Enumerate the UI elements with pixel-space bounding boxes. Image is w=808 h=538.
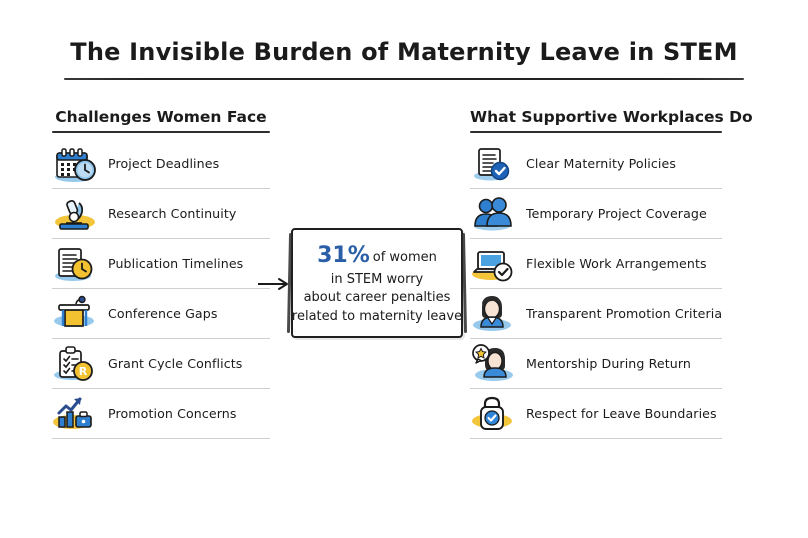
list-item-label: Clear Maternity Policies	[526, 156, 676, 171]
challenges-column: Challenges Women Face	[52, 108, 270, 439]
document-clock-icon	[52, 243, 100, 285]
list-item-label: Publication Timelines	[108, 256, 243, 271]
list-item-label: Transparent Promotion Criteria	[526, 306, 722, 321]
supportive-list: Clear Maternity Policies Temporary Proje…	[470, 139, 722, 439]
title-block: The Invisible Burden of Maternity Leave …	[64, 38, 744, 80]
list-item-label: Respect for Leave Boundaries	[526, 406, 717, 421]
list-item-label: Conference Gaps	[108, 306, 218, 321]
svg-text:R: R	[79, 365, 88, 378]
calendar-clock-icon	[52, 143, 100, 185]
laptop-check-icon	[470, 243, 518, 285]
list-item-conference-gaps[interactable]: Conference Gaps	[52, 289, 270, 339]
list-item-temporary-project-coverage[interactable]: Temporary Project Coverage	[470, 189, 722, 239]
list-item-label: Research Continuity	[108, 206, 236, 221]
stat-line-1: 31%of women	[317, 240, 437, 271]
list-item-label: Promotion Concerns	[108, 406, 237, 421]
clipboard-coin-icon: R	[52, 343, 100, 385]
stat-value: 31%	[317, 243, 370, 268]
list-item-label: Grant Cycle Conflicts	[108, 356, 242, 371]
supportive-column-header: What Supportive Workplaces Do	[470, 108, 722, 131]
list-item-respect-for-leave-boundaries[interactable]: Respect for Leave Boundaries	[470, 389, 722, 439]
list-item-label: Project Deadlines	[108, 156, 219, 171]
person-professional-icon	[470, 293, 518, 335]
list-item-publication-timelines[interactable]: Publication Timelines	[52, 239, 270, 289]
challenges-header-divider	[52, 131, 270, 133]
list-item-mentorship-during-return[interactable]: Mentorship During Return	[470, 339, 722, 389]
podium-icon	[52, 293, 100, 335]
list-item-label: Flexible Work Arrangements	[526, 256, 707, 271]
lock-check-icon	[470, 393, 518, 435]
list-item-flexible-work-arrangements[interactable]: Flexible Work Arrangements	[470, 239, 722, 289]
title-divider	[64, 78, 744, 80]
supportive-workplaces-column: What Supportive Workplaces Do Clear Mate…	[470, 108, 722, 439]
stat-line-4: related to maternity leave	[292, 308, 462, 326]
page-title: The Invisible Burden of Maternity Leave …	[64, 38, 744, 67]
stat-line-3: about career penalties	[304, 289, 451, 307]
stat-line-1-rest: of women	[373, 250, 437, 265]
list-item-grant-cycle-conflicts[interactable]: R Grant Cycle Conflicts	[52, 339, 270, 389]
list-item-label: Temporary Project Coverage	[526, 206, 707, 221]
challenges-list: Project Deadlines Research Continuity	[52, 139, 270, 439]
list-item-project-deadlines[interactable]: Project Deadlines	[52, 139, 270, 189]
list-item-label: Mentorship During Return	[526, 356, 691, 371]
person-star-badge-icon	[470, 343, 518, 385]
list-item-promotion-concerns[interactable]: Promotion Concerns	[52, 389, 270, 439]
supportive-header-divider	[470, 131, 722, 133]
list-item-clear-maternity-policies[interactable]: Clear Maternity Policies	[470, 139, 722, 189]
list-item-transparent-promotion-criteria[interactable]: Transparent Promotion Criteria	[470, 289, 722, 339]
two-people-icon	[470, 193, 518, 235]
challenges-column-header: Challenges Women Face	[52, 108, 270, 131]
infographic-canvas: The Invisible Burden of Maternity Leave …	[0, 0, 808, 538]
document-check-icon	[470, 143, 518, 185]
list-item-research-continuity[interactable]: Research Continuity	[52, 189, 270, 239]
stat-callout-box: 31%of women in STEM worry about career p…	[291, 228, 463, 338]
growth-chart-briefcase-icon	[52, 393, 100, 435]
microscope-icon	[52, 193, 100, 235]
stat-line-2: in STEM worry	[331, 271, 423, 289]
